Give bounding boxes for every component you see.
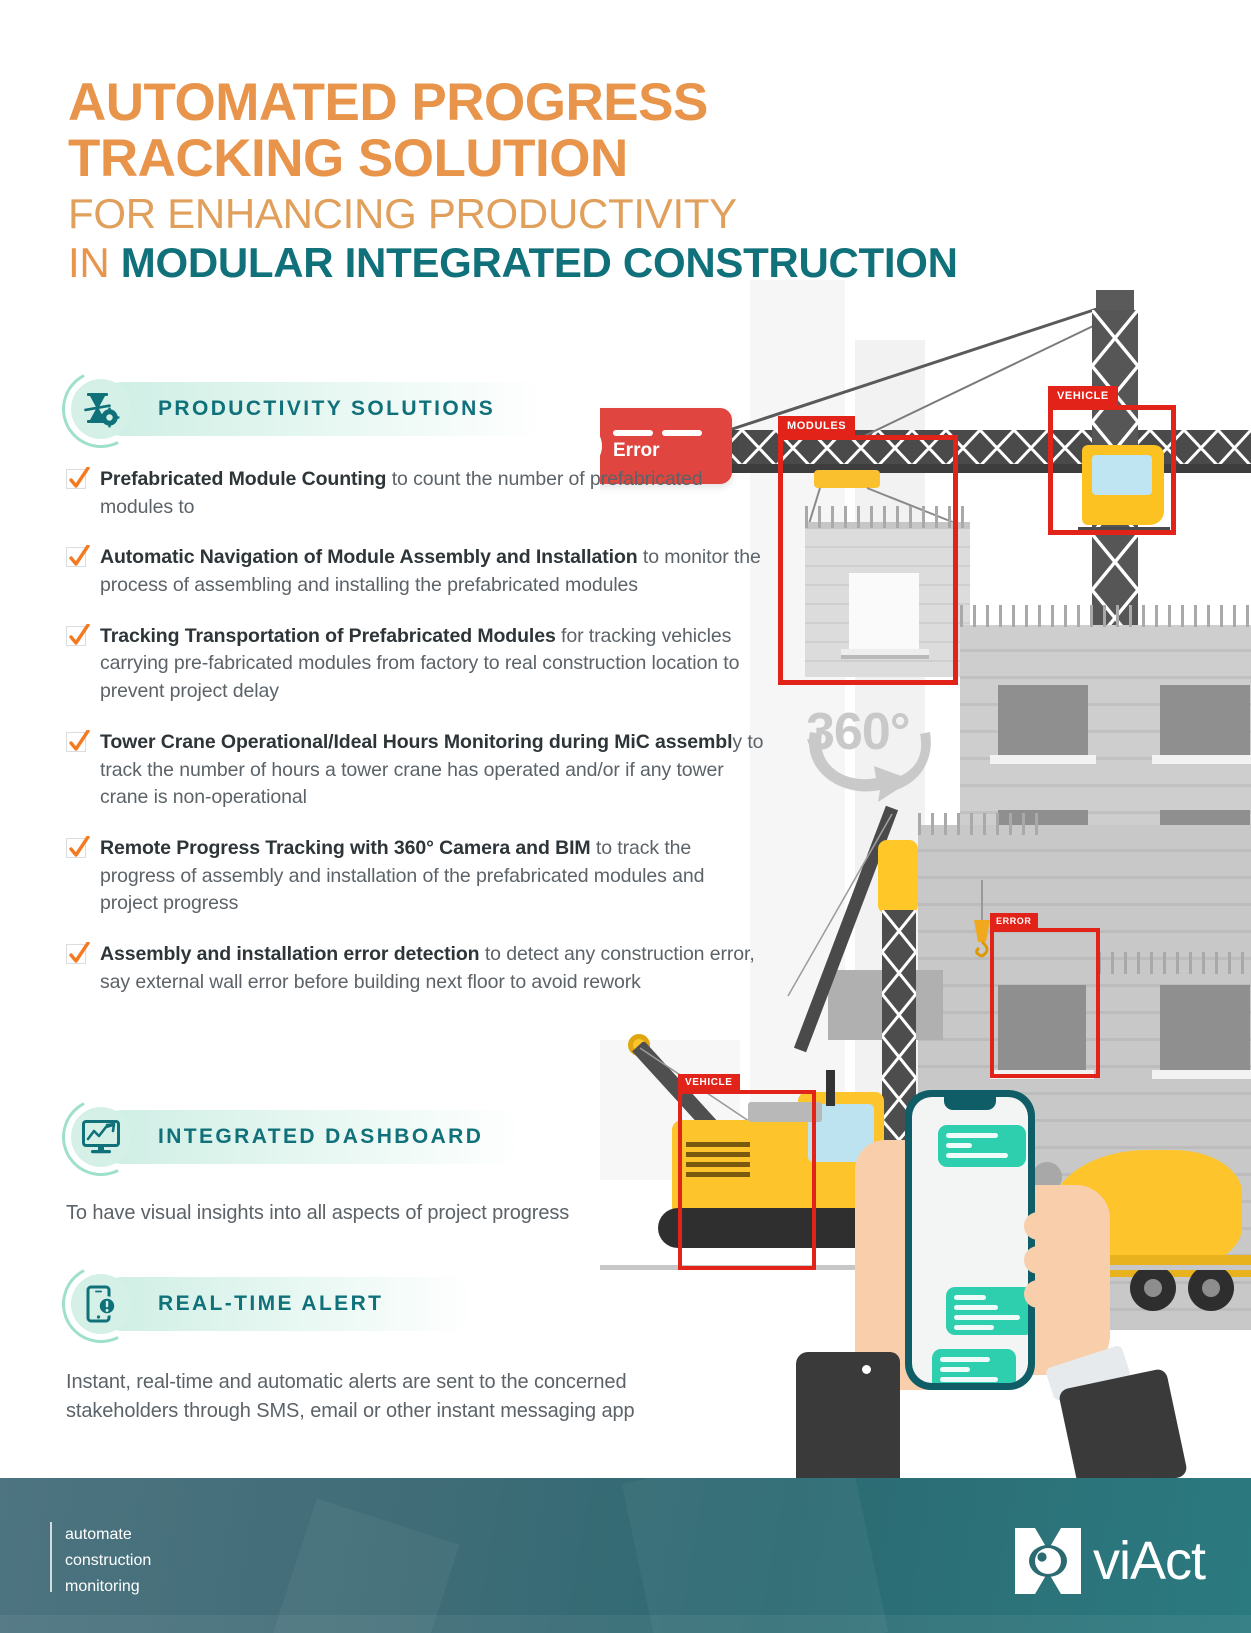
rotation-360-badge: 360°	[790, 680, 950, 810]
detection-box-modules[interactable]: MODULES	[778, 435, 958, 685]
detection-label: MODULES	[778, 416, 855, 435]
tagline-line-3: monitoring	[65, 1574, 151, 1600]
rotation-360-label: 360°	[806, 702, 910, 762]
monitor-chart-icon	[62, 1098, 140, 1176]
checkbox-checked-icon[interactable]	[66, 944, 86, 964]
hourglass-gear-icon	[62, 370, 140, 448]
footer-decor	[622, 1478, 889, 1633]
list-item: Automatic Navigation of Module Assembly …	[66, 544, 766, 599]
icon-circle	[71, 379, 131, 439]
icon-circle	[71, 1107, 131, 1167]
phone-alert-glyph-icon	[85, 1285, 117, 1323]
viact-logo-text: viAct	[1093, 1530, 1205, 1592]
building-window	[998, 685, 1088, 755]
mixer-wheel	[1188, 1265, 1234, 1311]
list-item-text: Prefabricated Module Counting to count t…	[100, 466, 766, 521]
list-item-text: Assembly and installation error detectio…	[100, 941, 766, 996]
list-item-bold: Prefabricated Module Counting	[100, 468, 386, 490]
dashboard-description: To have visual insights into all aspects…	[66, 1199, 716, 1228]
tagline-line-1: automate	[65, 1522, 151, 1548]
detection-box-error[interactable]: ERROR	[990, 928, 1100, 1078]
phone-notch	[944, 1097, 996, 1110]
alert-placeholder-lines	[613, 430, 702, 436]
phone-screen	[912, 1097, 1028, 1383]
title-line-2: TRACKING SOLUTION	[68, 132, 1128, 185]
list-item-bold: Tracking Transportation of Prefabricated…	[100, 625, 556, 647]
alert-description-line-1: Instant, real-time and automatic alerts …	[66, 1371, 626, 1393]
list-item-text: Automatic Navigation of Module Assembly …	[100, 544, 766, 599]
section-header-dashboard: INTEGRATED DASHBOARD	[62, 1104, 483, 1170]
building-sill	[990, 755, 1096, 764]
alert-label: Error	[613, 440, 702, 462]
section-header-alert: REAL-TIME ALERT	[62, 1271, 383, 1337]
mobile-phone[interactable]	[905, 1090, 1035, 1390]
building-rebar	[1098, 952, 1251, 974]
list-item: Remote Progress Tracking with 360° Camer…	[66, 835, 766, 918]
detection-label: VEHICLE	[678, 1074, 740, 1090]
page-title: AUTOMATED PROGRESS TRACKING SOLUTION FOR…	[68, 76, 1128, 284]
alert-description-line-2: stakeholders through SMS, email or other…	[66, 1400, 635, 1422]
infographic-page: 360°	[0, 0, 1251, 1633]
list-item-bold: Remote Progress Tracking with 360° Camer…	[100, 837, 591, 859]
checkmark-icon	[68, 942, 90, 966]
excavator-exhaust	[826, 1070, 835, 1106]
footer-tagline: automate construction monitoring	[50, 1522, 151, 1600]
list-item-bold: Automatic Navigation of Module Assembly …	[100, 546, 638, 568]
checkmark-icon	[68, 730, 90, 754]
detection-label: ERROR	[990, 913, 1038, 928]
monitor-chart-glyph-icon	[82, 1120, 120, 1154]
list-item-bold: Tower Crane Operational/Ideal Hours Moni…	[100, 731, 732, 753]
finger	[1024, 1246, 1082, 1274]
checkbox-checked-icon[interactable]	[66, 547, 86, 567]
section-title: PRODUCTIVITY SOLUTIONS	[158, 397, 495, 421]
list-item-text: Tower Crane Operational/Ideal Hours Moni…	[100, 729, 766, 812]
building-sill	[1152, 755, 1251, 764]
checkmark-icon	[68, 545, 90, 569]
list-item: Tracking Transportation of Prefabricated…	[66, 623, 766, 706]
building-window	[1160, 985, 1250, 1070]
building-window	[1160, 685, 1250, 755]
checkmark-icon	[68, 836, 90, 860]
checkbox-checked-icon[interactable]	[66, 838, 86, 858]
title-line-1: AUTOMATED PROGRESS	[68, 76, 1128, 129]
footer-decor	[0, 1615, 1251, 1633]
chat-bubble	[946, 1287, 1028, 1335]
chat-bubble	[938, 1125, 1026, 1167]
tagline-line-2: construction	[65, 1548, 151, 1574]
footer-divider	[50, 1522, 52, 1592]
checkbox-checked-icon[interactable]	[66, 626, 86, 646]
checkmark-icon	[68, 624, 90, 648]
detection-box-vehicle-crane[interactable]: VEHICLE	[1048, 405, 1176, 535]
viact-logo[interactable]: viAct	[1011, 1524, 1205, 1598]
viact-eye-icon	[1011, 1524, 1085, 1598]
icon-circle	[71, 1274, 131, 1334]
section-title: INTEGRATED DASHBOARD	[158, 1125, 483, 1149]
phone-alert-icon	[62, 1265, 140, 1343]
section-header-productivity: PRODUCTIVITY SOLUTIONS	[62, 376, 495, 442]
checkbox-checked-icon[interactable]	[66, 469, 86, 489]
footer-decor	[270, 1498, 459, 1633]
list-item: Assembly and installation error detectio…	[66, 941, 766, 996]
finger	[1024, 1280, 1082, 1308]
footer: automate construction monitoring viAct	[0, 1478, 1251, 1633]
alert-description: Instant, real-time and automatic alerts …	[66, 1368, 746, 1426]
productivity-bullet-list: Prefabricated Module Counting to count t…	[66, 466, 766, 1019]
chat-bubble	[932, 1349, 1016, 1383]
section-title: REAL-TIME ALERT	[158, 1292, 383, 1316]
footer-tagline-text: automate construction monitoring	[65, 1522, 151, 1600]
list-item-bold: Assembly and installation error detectio…	[100, 943, 480, 965]
sleeve-left	[796, 1352, 900, 1480]
title-line-3: FOR ENHANCING PRODUCTIVITY	[68, 193, 1128, 235]
list-item: Prefabricated Module Counting to count t…	[66, 466, 766, 521]
alert-text: Error	[613, 430, 702, 462]
list-item-text: Tracking Transportation of Prefabricated…	[100, 623, 766, 706]
list-item: Tower Crane Operational/Ideal Hours Moni…	[66, 729, 766, 812]
checkbox-checked-icon[interactable]	[66, 732, 86, 752]
bell-icon	[600, 422, 602, 470]
building-rebar	[960, 605, 1251, 627]
title-line-4: IN MODULAR INTEGRATED CONSTRUCTION	[68, 242, 1128, 284]
list-item-text: Remote Progress Tracking with 360° Camer…	[100, 835, 766, 918]
title-line-4-highlight: MODULAR INTEGRATED CONSTRUCTION	[121, 239, 958, 286]
building-sill	[1152, 1070, 1251, 1079]
cufflink	[862, 1365, 871, 1374]
finger	[1024, 1212, 1082, 1240]
title-line-4-prefix: IN	[68, 239, 121, 286]
mobile-crane-hoist	[878, 840, 918, 914]
detection-box-vehicle-excavator[interactable]: VEHICLE	[678, 1090, 816, 1270]
hourglass-gear-glyph-icon	[82, 390, 120, 428]
mixer-wheel	[1130, 1265, 1176, 1311]
checkmark-icon	[68, 467, 90, 491]
detection-label: VEHICLE	[1048, 386, 1118, 405]
